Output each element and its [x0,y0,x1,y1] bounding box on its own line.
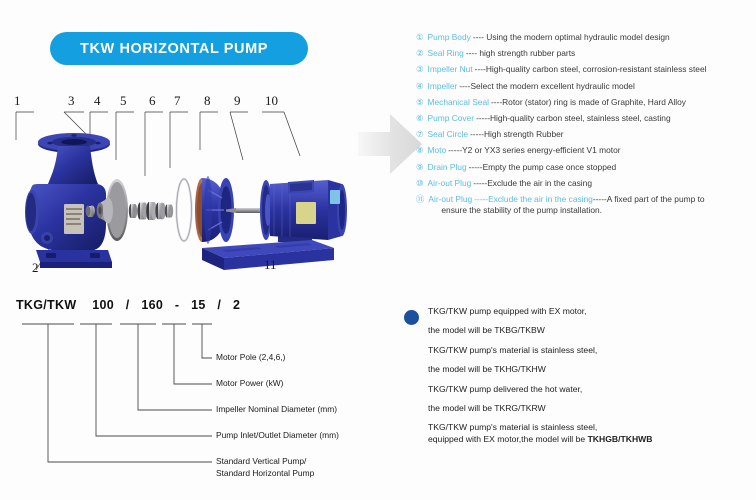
callout-10: 10 [265,94,278,107]
page-title-banner: TKW HORIZONTAL PUMP [50,32,308,65]
legend-number: ⑤ [416,97,424,108]
model-nomenclature-diagram: TKG/TKW 100 / 160 - 15 / 2 [16,298,376,498]
callout-8: 8 [204,94,211,107]
legend-name: Impeller Nut [428,64,473,75]
note-line: TKG/TKW pump's material is stainless ste… [428,345,754,356]
callout-1: 1 [14,94,21,107]
nom-label-motor-power: Motor Power (kW) [216,378,283,389]
legend-number: ⑨ [416,162,424,173]
legend-item: ⑤ Mechanical Seal ----Rotor (stator) rin… [416,97,752,108]
legend-desc: -----Empty the pump case once stopped [469,162,617,173]
legend-number: ② [416,48,424,59]
legend-desc: -----High-quality carbon steel, stainles… [476,113,671,124]
legend-number: ① [416,32,424,43]
legend-number: ⑥ [416,113,424,124]
legend-item: ④ Impeller ----Select the modern excelle… [416,81,752,92]
note-line: TKG/TKW pump's material is stainless ste… [428,422,754,433]
page-root: TKW HORIZONTAL PUMP [0,0,756,500]
legend-item-last: ⑪ Air-out Plug-----Exclude the air in th… [416,194,752,216]
note-line-final: equipped with EX motor,the model will be… [428,434,754,445]
callout-2: 2 [32,261,39,274]
nom-label-inlet-diameter: Pump Inlet/Outlet Diameter (mm) [216,430,339,441]
component-legend-list: ① Pump Body ---- Using the modern optima… [416,32,752,221]
callout-6: 6 [149,94,156,107]
legend-item: ⑨ Drain Plug -----Empty the pump case on… [416,162,752,173]
note-final-model: TKHGB/TKHWB [588,434,653,444]
legend-desc: ----Rotor (stator) ring is made of Graph… [491,97,686,108]
note-line: the model will be TKBG/TKBW [428,325,754,336]
legend-name: Air-out Plug [428,194,472,204]
legend-item: ⑦ Seal Circle -----High strength Rubber [416,129,752,140]
legend-desc: -----High strength Rubber [470,129,564,140]
legend-name: Seal Circle [428,129,469,140]
nom-label-standard-vertical: Standard Vertical Pump/ [216,456,306,467]
note-line: TKG/TKW pump delivered the hot water, [428,384,754,395]
legend-item: ③ Impeller Nut ----High-quality carbon s… [416,64,752,75]
legend-name: Moto [428,145,447,156]
legend-item: ② Seal Ring ---- high strength rubber pa… [416,48,752,59]
legend-number: ⑩ [416,178,424,189]
page-title: TKW HORIZONTAL PUMP [50,41,268,57]
callout-4: 4 [94,94,101,107]
legend-name: Pump Cover [428,113,475,124]
legend-desc: ---- Using the modern optimal hydraulic … [473,32,670,43]
legend-desc: -----Y2 or YX3 series energy-efficient V… [448,145,620,156]
legend-item: ① Pump Body ---- Using the modern optima… [416,32,752,43]
nom-label-standard-horizontal: Standard Horizontal Pump [216,468,314,479]
legend-name: Pump Body [428,32,471,43]
legend-number: ④ [416,81,424,92]
callout-3: 3 [68,94,75,107]
legend-item: ⑥ Pump Cover -----High-quality carbon st… [416,113,752,124]
legend-number: ③ [416,64,424,75]
legend-name: Seal Ring [428,48,464,59]
legend-desc-continued: ensure the stability of the pump install… [441,205,704,216]
note-line: TKG/TKW pump equipped with EX motor, [428,306,754,317]
legend-name: Air-out Plug [428,178,472,189]
legend-item: ⑩ Air-out Plug -----Exclude the air in t… [416,178,752,189]
legend-name: Mechanical Seal [428,97,489,108]
legend-number: ⑦ [416,129,424,140]
nom-label-motor-pole: Motor Pole (2,4,6,) [216,352,285,363]
callout-11: 11 [264,258,277,271]
legend-desc: ---- high strength rubber parts [466,48,575,59]
legend-desc: -----A fixed part of the pump to [593,194,705,204]
legend-name: Impeller [428,81,458,92]
nom-label-impeller-diameter: Impeller Nominal Diameter (mm) [216,404,337,415]
legend-number: ⑧ [416,145,424,156]
legend-item: ⑧ Moto -----Y2 or YX3 series energy-effi… [416,145,752,156]
bullet-dot-icon [404,310,419,325]
note-line: the model will be TKRG/TKRW [428,403,754,414]
callout-7: 7 [174,94,181,107]
exploded-pump-diagram: 1 2 3 4 5 6 7 8 9 10 11 [12,98,362,283]
legend-name: Drain Plug [428,162,467,173]
legend-desc: ----High-quality carbon steel, corrosion… [475,64,707,75]
legend-desc: ----Select the modern excellent hydrauli… [459,81,635,92]
model-variant-notes: TKG/TKW pump equipped with EX motor, the… [404,306,754,454]
legend-number: ⑪ [416,194,424,205]
callout-9: 9 [234,94,241,107]
legend-desc-blue: -----Exclude the air in the casing [474,194,593,204]
note-final-text: equipped with EX motor,the model will be [428,434,588,444]
callout-5: 5 [120,94,127,107]
note-line: the model will be TKHG/TKHW [428,364,754,375]
legend-desc: -----Exclude the air in the casing [473,178,592,189]
nomenclature-leader-lines [16,298,376,498]
